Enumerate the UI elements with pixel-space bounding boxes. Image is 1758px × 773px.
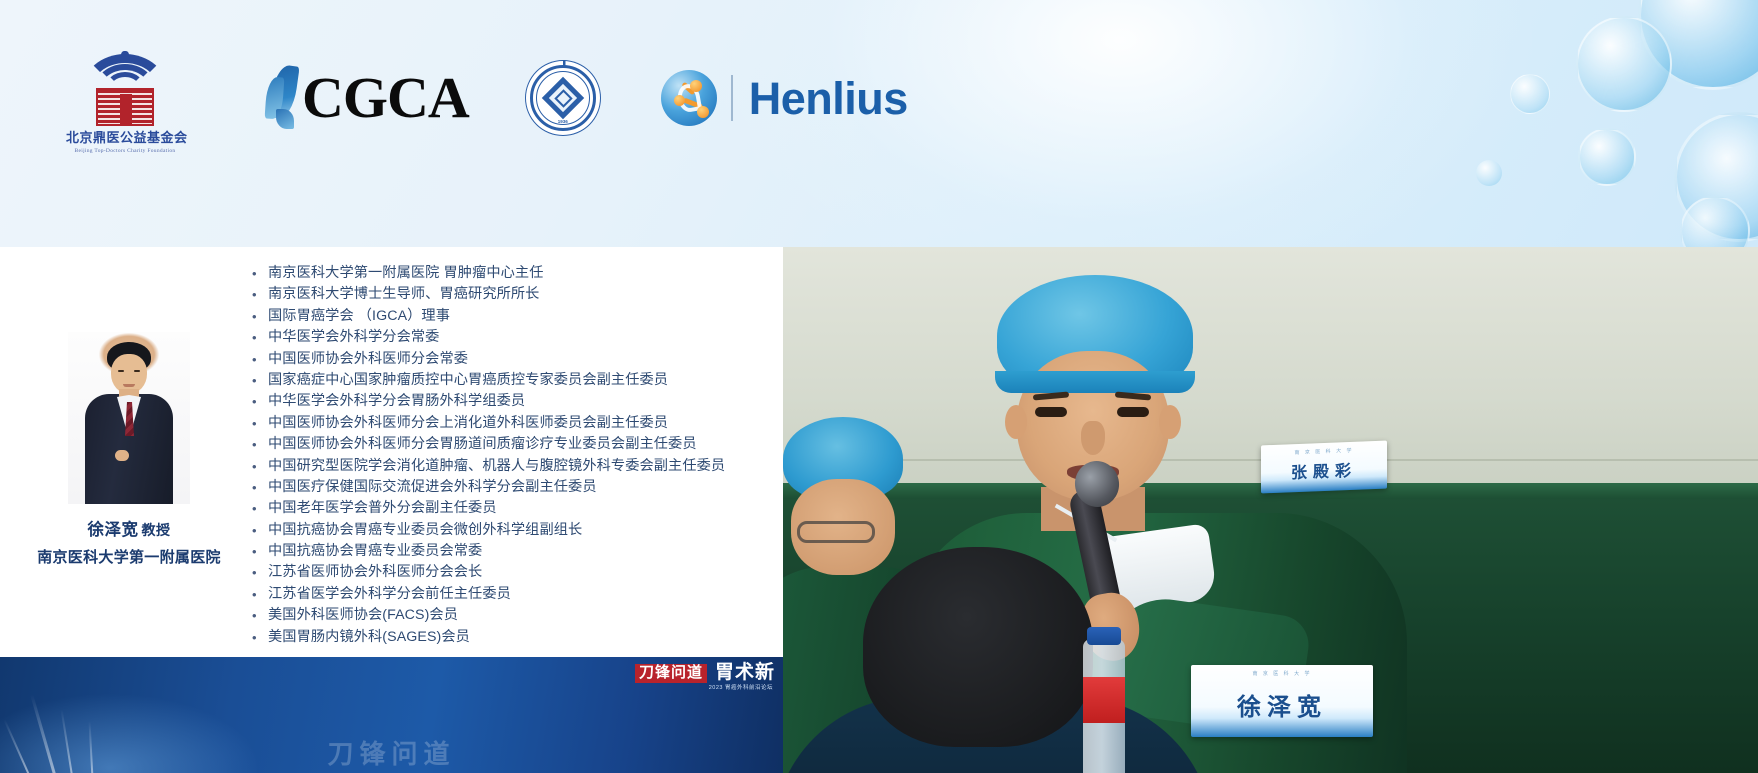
molecule-icon bbox=[661, 70, 717, 126]
list-item: •江苏省医师协会外科医师分会会长 bbox=[252, 564, 775, 581]
list-item: •中国研究型医院学会消化道肿瘤、机器人与腹腔镜外科专委会副主任委员 bbox=[252, 458, 775, 475]
speaker-title: 教授 bbox=[142, 522, 171, 538]
bullet-icon: • bbox=[252, 372, 268, 389]
bullet-icon: • bbox=[252, 436, 268, 453]
decorative-bubble bbox=[1576, 16, 1672, 112]
cgca-logo: CGCA bbox=[266, 65, 469, 131]
event-brand-strip: 刀锋问道 刀锋问道 胃术新 2023 胃癌外科前沿论坛 bbox=[0, 657, 783, 773]
temple-of-heaven-icon bbox=[66, 48, 184, 126]
event-brand-lockup: 刀锋问道 胃术新 bbox=[635, 663, 775, 683]
bottle-label bbox=[1083, 677, 1125, 723]
list-item: •中国老年医学会普外分会副主任委员 bbox=[252, 500, 775, 517]
bullet-icon: • bbox=[252, 564, 268, 581]
list-item: •美国胃肠内镜外科(SAGES)会员 bbox=[252, 629, 775, 646]
live-video-feed[interactable]: 南 京 医 科 大 学 张殿彩 bbox=[783, 247, 1758, 773]
decorative-bubble bbox=[1510, 74, 1550, 114]
henlius-logo: Henlius bbox=[661, 70, 908, 126]
foundation-name-en: Beijing Top-Doctors Charity Foundation bbox=[66, 148, 184, 154]
list-item: •南京医科大学第一附属医院 胃肿瘤中心主任 bbox=[252, 265, 775, 282]
bullet-icon: • bbox=[252, 415, 268, 432]
logo-row: 北京鼎医公益基金会 Beijing Top-Doctors Charity Fo… bbox=[0, 48, 908, 148]
presentation-slide: 徐泽宽教授 南京医科大学第一附属医院 •南京医科大学第一附属医院 胃肿瘤中心主任… bbox=[0, 247, 783, 657]
bullet-icon: • bbox=[252, 308, 268, 325]
bullet-icon: • bbox=[252, 286, 268, 303]
speaker-name-text: 徐泽宽 bbox=[88, 521, 139, 539]
hospital-seal-logo: 1936 bbox=[525, 60, 601, 136]
bullet-icon: • bbox=[252, 500, 268, 517]
speaker-portrait-photo bbox=[68, 332, 190, 504]
speaker-name: 徐泽宽教授 bbox=[18, 516, 240, 540]
list-item: •江苏省医学会外科学分会前任主任委员 bbox=[252, 586, 775, 603]
list-item: •中国抗癌协会胃癌专业委员会微创外科学组副组长 bbox=[252, 522, 775, 539]
brand-sub-text: 2023 胃癌外科前沿论坛 bbox=[709, 683, 773, 691]
list-item: •中国医师协会外科医师分会上消化道外科医师委员会副主任委员 bbox=[252, 415, 775, 432]
nameplate-front: 南 京 医 科 大 学 徐泽宽 bbox=[1191, 665, 1373, 737]
list-item: •中国医师协会外科医师分会常委 bbox=[252, 351, 775, 368]
bullet-icon: • bbox=[252, 393, 268, 410]
brand-main-text: 胃术新 bbox=[715, 663, 775, 683]
cgca-wordmark: CGCA bbox=[302, 69, 469, 127]
decorative-bubble bbox=[1476, 160, 1502, 186]
list-item: •中国医疗保健国际交流促进会外科学分会副主任委员 bbox=[252, 479, 775, 496]
nameplate-name: 徐泽宽 bbox=[1191, 687, 1373, 722]
list-item: •国家癌症中心国家肿瘤质控中心胃癌质控专家委员会副主任委员 bbox=[252, 372, 775, 389]
flame-icon bbox=[266, 65, 300, 131]
foundation-name-cn: 北京鼎医公益基金会 bbox=[66, 127, 184, 146]
bullet-icon: • bbox=[252, 629, 268, 646]
bullet-icon: • bbox=[252, 522, 268, 539]
bullet-icon: • bbox=[252, 458, 268, 475]
list-item: •中华医学会外科学分会常委 bbox=[252, 329, 775, 346]
speaker-profile: 徐泽宽教授 南京医科大学第一附属医院 bbox=[18, 332, 240, 567]
bullet-icon: • bbox=[252, 265, 268, 282]
bullet-icon: • bbox=[252, 607, 268, 624]
list-item: •南京医科大学博士生导师、胃癌研究所所长 bbox=[252, 286, 775, 303]
bullet-icon: • bbox=[252, 329, 268, 346]
list-item: •中国医师协会外科医师分会胃肠道间质瘤诊疗专业委员会副主任委员 bbox=[252, 436, 775, 453]
decorative-bubble bbox=[1578, 128, 1636, 186]
list-item: •中华医学会外科学分会胃肠外科学组委员 bbox=[252, 393, 775, 410]
bottle-cap bbox=[1087, 627, 1121, 645]
brand-seal-text: 刀锋问道 bbox=[635, 664, 707, 683]
bullet-icon: • bbox=[252, 586, 268, 603]
bullet-icon: • bbox=[252, 479, 268, 496]
eyeglasses-icon bbox=[797, 521, 875, 543]
sponsor-logo-banner: 北京鼎医公益基金会 Beijing Top-Doctors Charity Fo… bbox=[0, 0, 1758, 247]
list-item: •美国外科医师协会(FACS)会员 bbox=[252, 607, 775, 624]
bullet-icon: • bbox=[252, 351, 268, 368]
bullet-icon: • bbox=[252, 543, 268, 560]
logo-divider bbox=[731, 75, 733, 121]
center-watermark: 刀锋问道 bbox=[0, 734, 783, 771]
nameplate-top-label: 南 京 医 科 大 学 bbox=[1191, 670, 1373, 677]
henlius-wordmark: Henlius bbox=[749, 76, 908, 121]
screenshot-root: 北京鼎医公益基金会 Beijing Top-Doctors Charity Fo… bbox=[0, 0, 1758, 773]
credentials-list: •南京医科大学第一附属医院 胃肿瘤中心主任 •南京医科大学博士生导师、胃癌研究所… bbox=[252, 265, 775, 657]
seal-year-label: 1936 bbox=[525, 119, 601, 124]
list-item: •国际胃癌学会 （IGCA）理事 bbox=[252, 308, 775, 325]
speaker-affiliation: 南京医科大学第一附属医院 bbox=[18, 546, 240, 567]
list-item: •中国抗癌协会胃癌专业委员会常委 bbox=[252, 543, 775, 560]
beijing-top-doctors-charity-foundation-logo: 北京鼎医公益基金会 Beijing Top-Doctors Charity Fo… bbox=[66, 48, 184, 148]
